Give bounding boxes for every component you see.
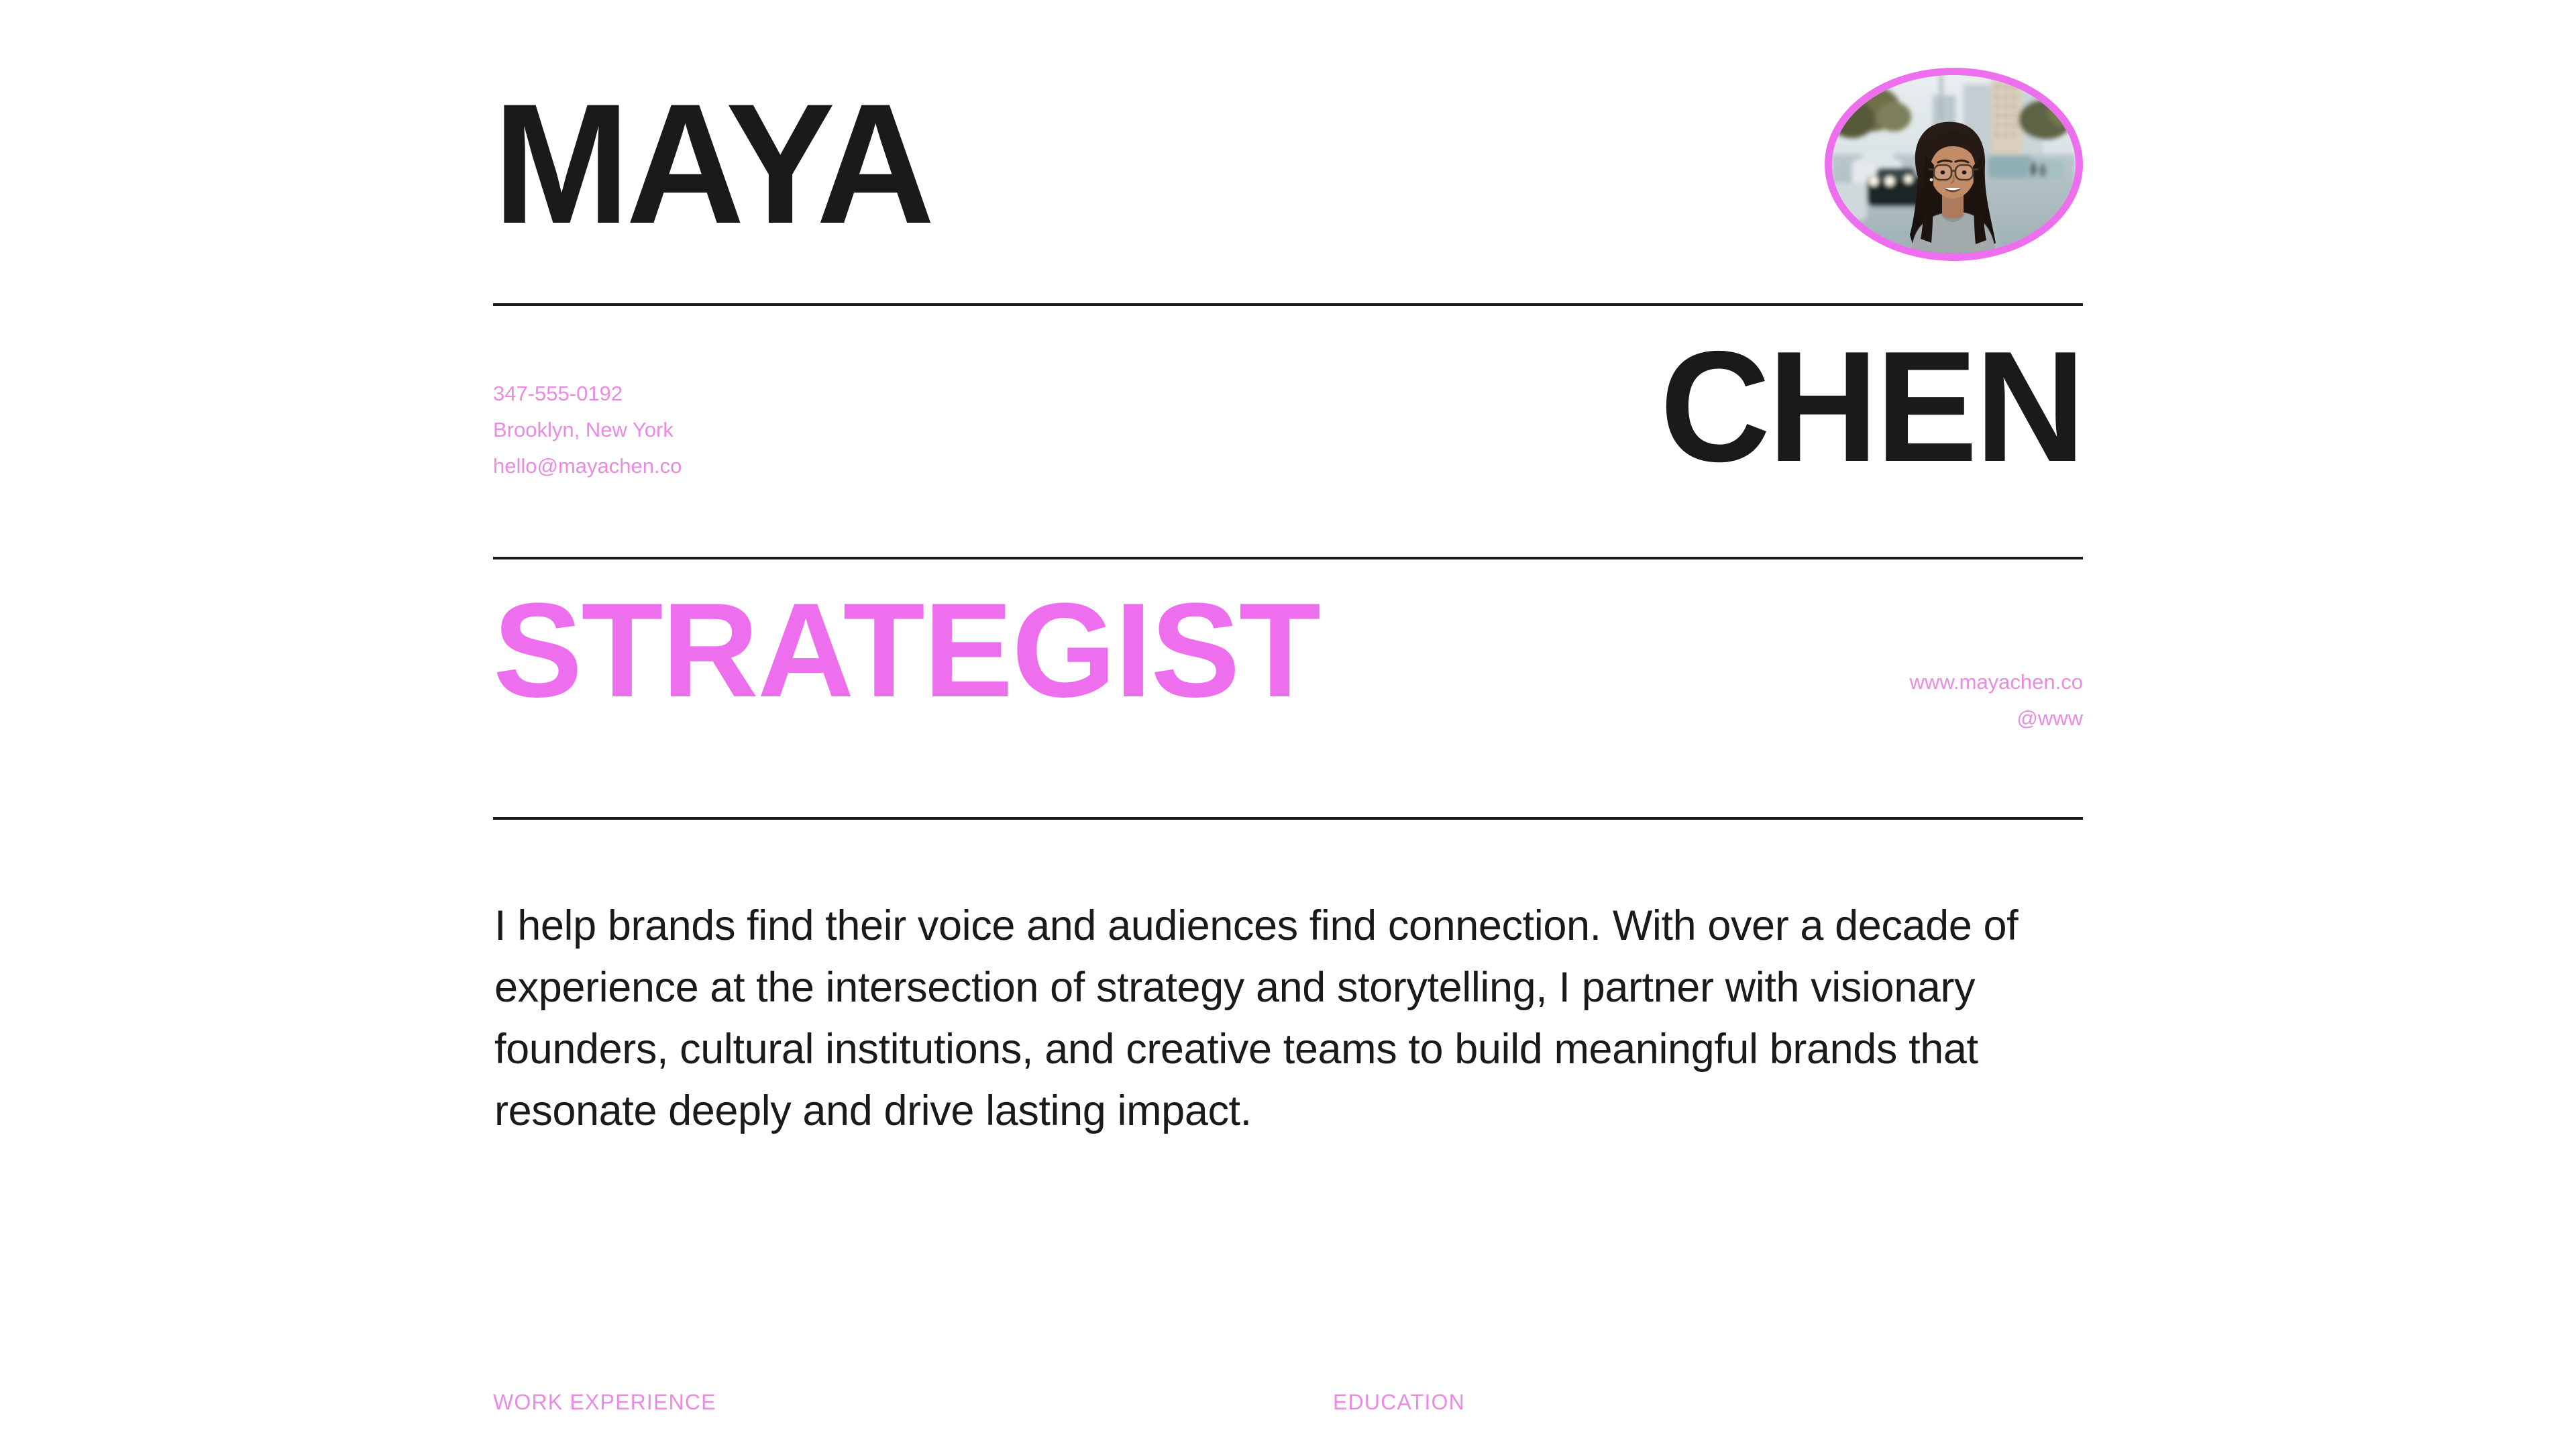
portrait-illustration bbox=[1832, 75, 2076, 254]
contact-item-phone[interactable]: 347-555-0192 bbox=[493, 376, 682, 412]
contact-row: 347-555-0192 Brooklyn, New York hello@ma… bbox=[493, 335, 2083, 537]
contact-list: 347-555-0192 Brooklyn, New York hello@ma… bbox=[493, 335, 682, 484]
avatar-photo bbox=[1832, 75, 2076, 254]
divider-rule-3 bbox=[493, 817, 2083, 820]
contact-item-location: Brooklyn, New York bbox=[493, 412, 682, 448]
link-social[interactable]: @www bbox=[1910, 700, 2083, 737]
divider-rule-2 bbox=[493, 557, 2083, 559]
link-website[interactable]: www.mayachen.co bbox=[1910, 664, 2083, 700]
section-label-work-experience: WORK EXPERIENCE bbox=[493, 1390, 716, 1415]
divider-rule-1 bbox=[493, 303, 2083, 306]
section-label-education: EDUCATION bbox=[1333, 1390, 1465, 1415]
contact-item-email[interactable]: hello@mayachen.co bbox=[493, 448, 682, 484]
role-row: STRATEGIST www.mayachen.co @www bbox=[493, 590, 2083, 792]
section-label-row: WORK EXPERIENCE EDUCATION bbox=[493, 1390, 2083, 1424]
first-name-heading: MAYA bbox=[493, 94, 931, 234]
resume-page: MAYA bbox=[0, 0, 2576, 1449]
last-name-heading: CHEN bbox=[1660, 335, 2083, 472]
avatar bbox=[1825, 68, 2083, 261]
header-top-row: MAYA bbox=[493, 64, 2083, 265]
links-list: www.mayachen.co @www bbox=[1910, 590, 2083, 737]
role-title-heading: STRATEGIST bbox=[493, 590, 1320, 711]
summary-paragraph: I help brands find their voice and audie… bbox=[494, 896, 2084, 1142]
